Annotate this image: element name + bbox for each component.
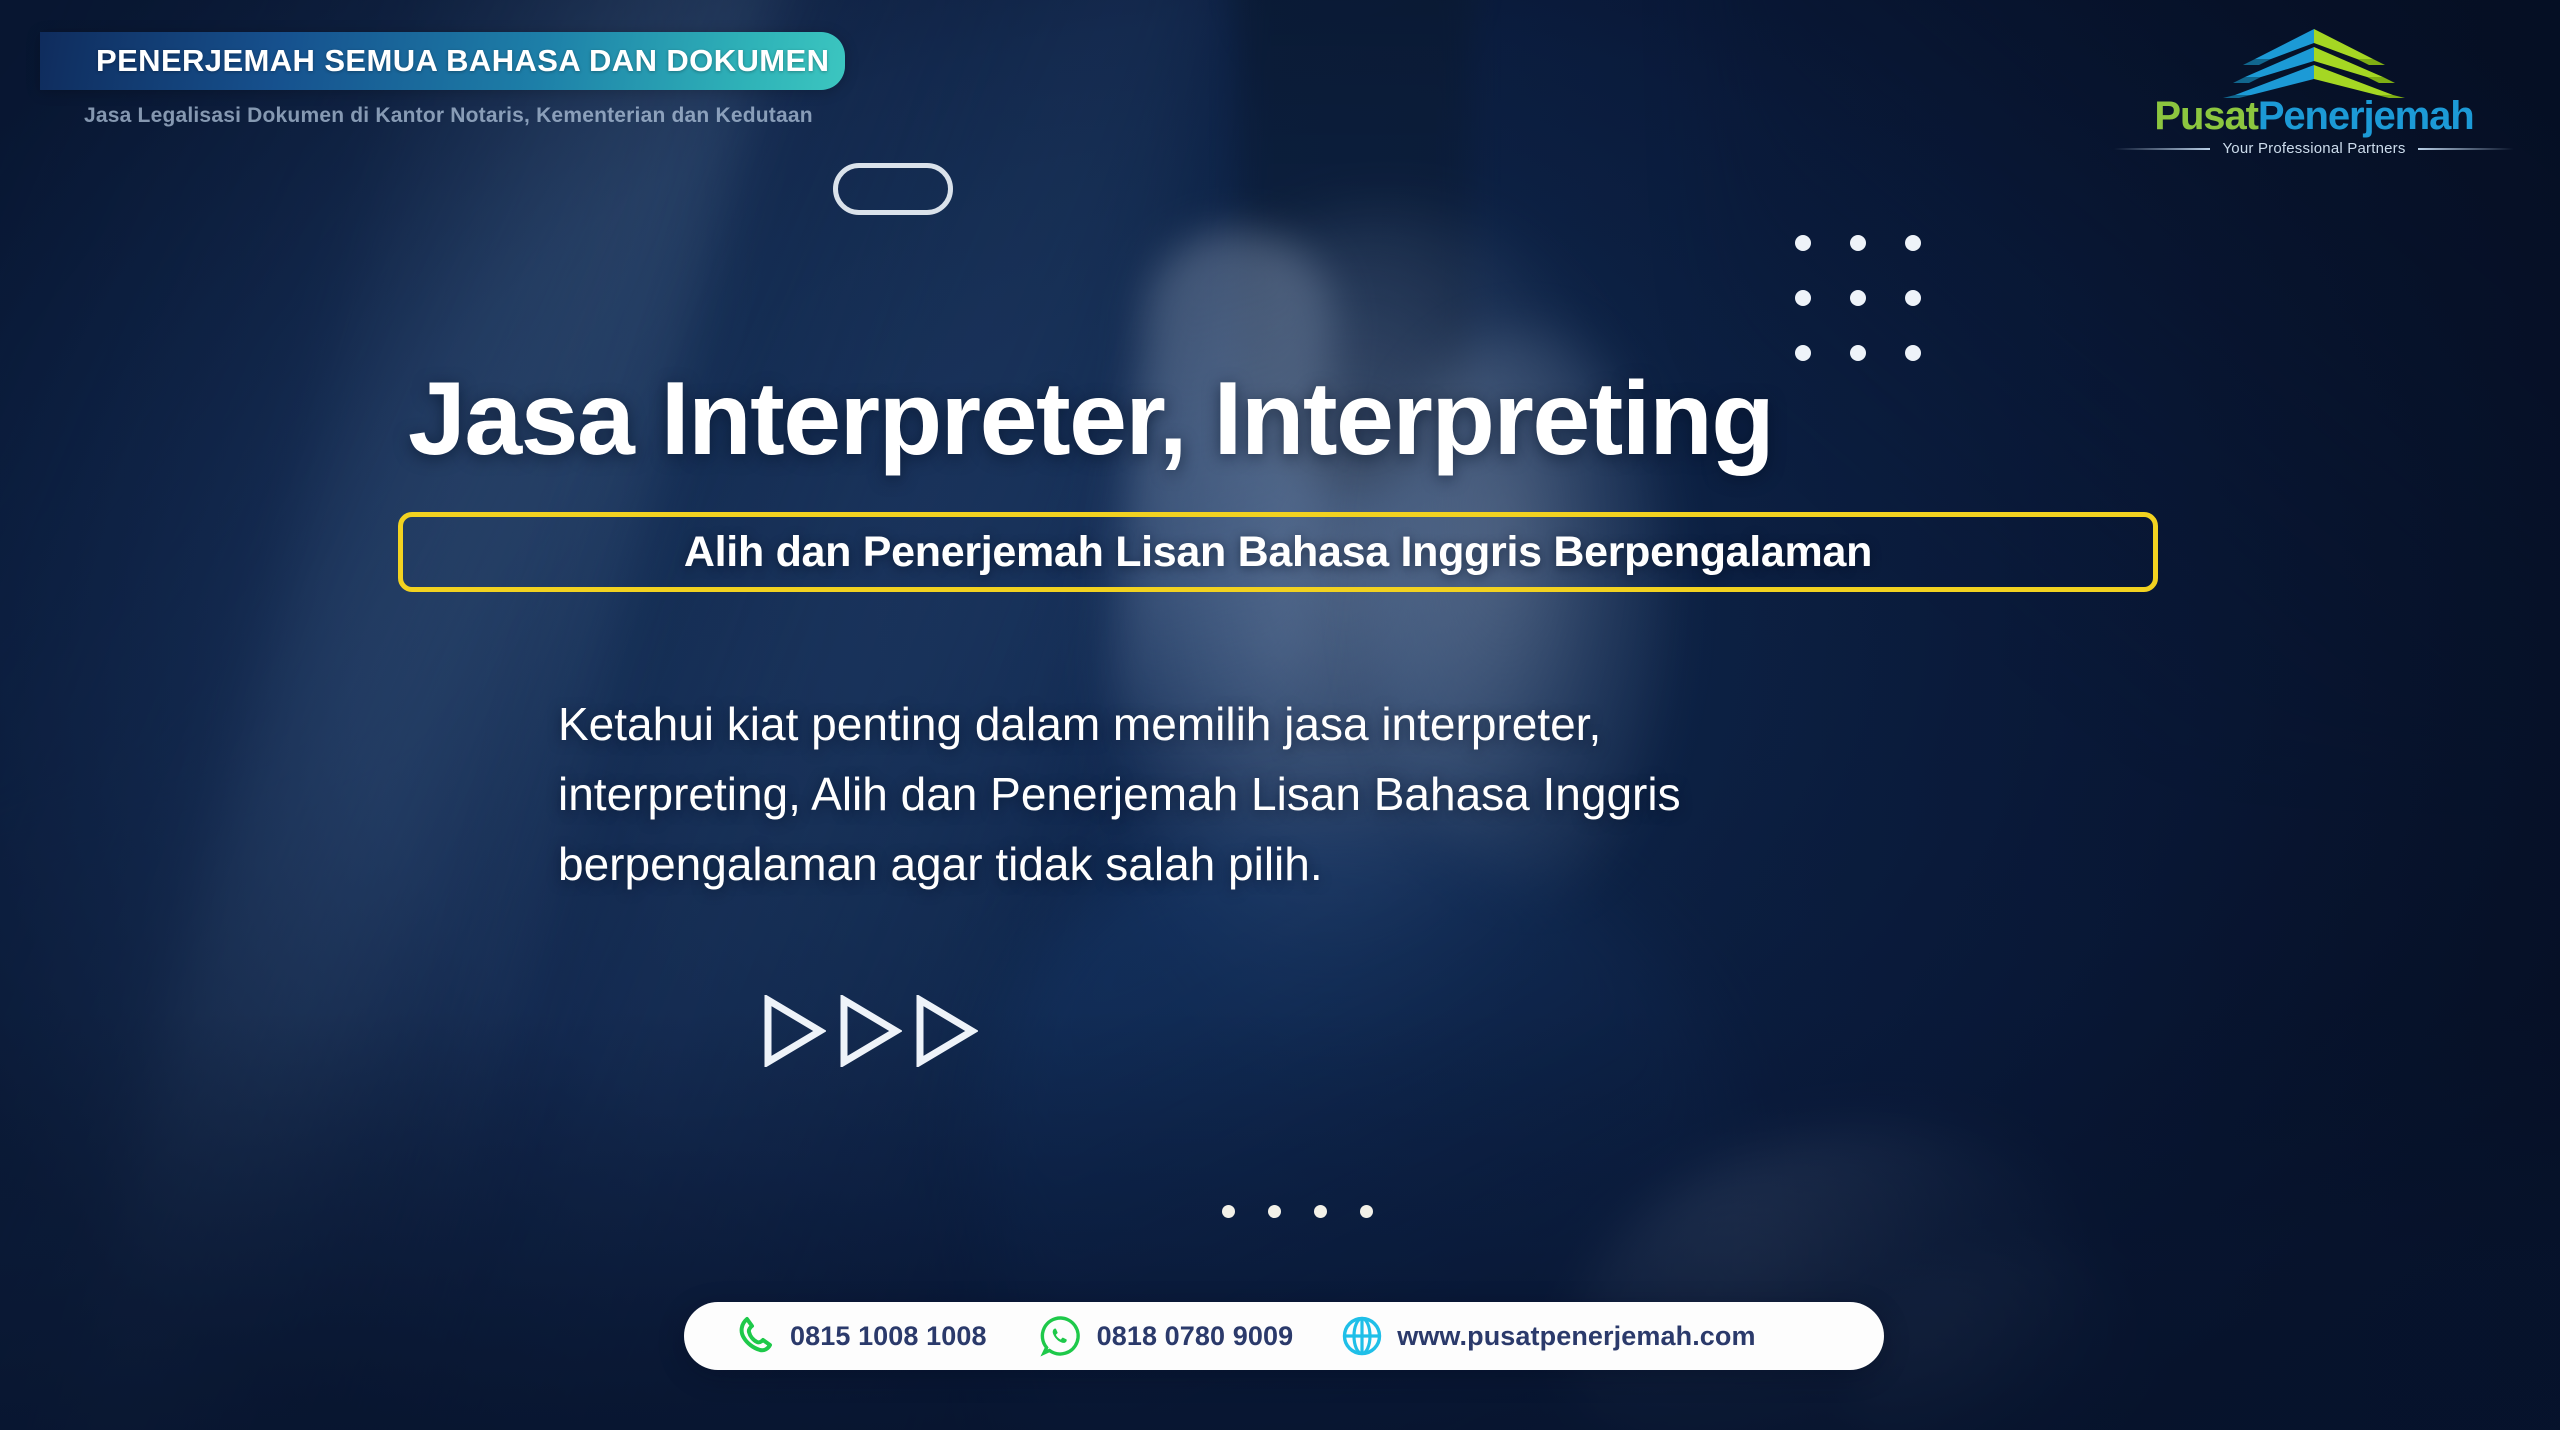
- row-dot: [1268, 1205, 1281, 1218]
- paragraph-line: berpengalaman agar tidak salah pilih.: [558, 830, 2118, 900]
- dot-grid-decoration: [1795, 235, 1921, 361]
- contact-whatsapp[interactable]: 0818 0780 9009: [1039, 1302, 1294, 1370]
- grid-dot: [1850, 290, 1866, 306]
- whatsapp-number: 0818 0780 9009: [1097, 1321, 1294, 1352]
- website-url: www.pusatpenerjemah.com: [1397, 1321, 1755, 1352]
- logo-rule-right: [2418, 148, 2514, 150]
- grid-dot: [1795, 235, 1811, 251]
- logo-tagline-row: Your Professional Partners: [2114, 140, 2514, 157]
- whatsapp-icon: [1039, 1314, 1083, 1358]
- grid-dot: [1905, 235, 1921, 251]
- grid-dot: [1850, 235, 1866, 251]
- grid-dot: [1850, 345, 1866, 361]
- logo-rule-left: [2114, 148, 2210, 150]
- hero-paragraph: Ketahui kiat penting dalam memilih jasa …: [558, 690, 2118, 900]
- row-dot: [1314, 1205, 1327, 1218]
- logo-building-icon: [2209, 26, 2419, 98]
- contact-bar: 0815 1008 1008 0818 0780 9009 www.pu: [684, 1302, 1884, 1370]
- globe-icon: [1341, 1315, 1383, 1357]
- phone-icon: [736, 1315, 776, 1357]
- grid-dot: [1795, 290, 1811, 306]
- hero-subtitle-text: Alih dan Penerjemah Lisan Bahasa Inggris…: [684, 528, 1872, 577]
- row-dot: [1360, 1205, 1373, 1218]
- row-dot: [1222, 1205, 1235, 1218]
- company-logo[interactable]: PusatPenerjemah Your Professional Partne…: [2114, 26, 2514, 176]
- grid-dot: [1905, 345, 1921, 361]
- grid-dot: [1795, 345, 1811, 361]
- contact-website[interactable]: www.pusatpenerjemah.com: [1341, 1302, 1755, 1370]
- logo-word-pusat: Pusat: [2154, 94, 2257, 138]
- paragraph-line: interpreting, Alih dan Penerjemah Lisan …: [558, 760, 2118, 830]
- ribbon-banner: PENERJEMAH SEMUA BAHASA DAN DOKUMEN: [40, 32, 845, 90]
- play-triangle-icon: [838, 995, 902, 1067]
- ribbon-subtitle: Jasa Legalisasi Dokumen di Kantor Notari…: [84, 104, 813, 128]
- logo-wordmark: PusatPenerjemah: [2154, 96, 2473, 136]
- grid-dot: [1905, 290, 1921, 306]
- dots-row-decoration: [1222, 1205, 1373, 1218]
- contact-phone[interactable]: 0815 1008 1008: [736, 1302, 987, 1370]
- paragraph-line: Ketahui kiat penting dalam memilih jasa …: [558, 690, 2118, 760]
- arrow-decoration-group: [762, 995, 978, 1067]
- play-triangle-icon: [914, 995, 978, 1067]
- ribbon-title: PENERJEMAH SEMUA BAHASA DAN DOKUMEN: [96, 43, 829, 79]
- hero-subtitle-box: Alih dan Penerjemah Lisan Bahasa Inggris…: [398, 512, 2158, 592]
- rounded-outline-pill: [833, 163, 953, 215]
- hero-headline: Jasa Interpreter, Interpreting: [408, 365, 2198, 474]
- logo-word-penerjemah: Penerjemah: [2258, 94, 2474, 138]
- promo-banner: PENERJEMAH SEMUA BAHASA DAN DOKUMEN Jasa…: [0, 0, 2560, 1430]
- phone-number: 0815 1008 1008: [790, 1321, 987, 1352]
- play-triangle-icon: [762, 995, 826, 1067]
- logo-tagline: Your Professional Partners: [2222, 140, 2405, 157]
